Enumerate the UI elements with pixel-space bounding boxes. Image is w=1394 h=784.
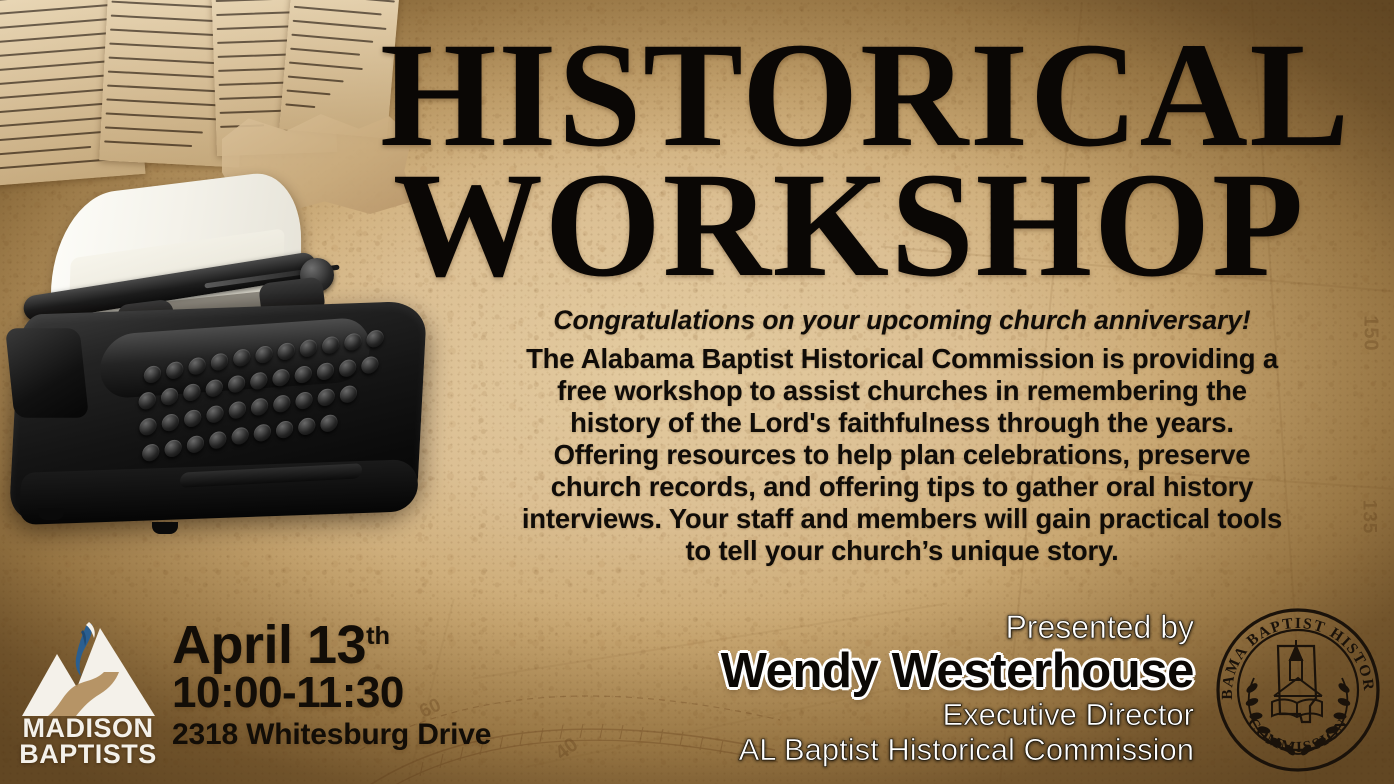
historical-workshop-flyer: 150 135 40 60	[0, 0, 1394, 784]
alabama-baptist-historical-commission-seal: ALABAMA BAPTIST HISTORICAL COMMISSION	[1210, 602, 1386, 778]
typewriter-foot	[152, 522, 178, 534]
event-date-text: April 13	[172, 615, 366, 675]
madison-baptists-logo: MADISON BAPTISTS	[14, 618, 162, 774]
page-title: HISTORICAL WORKSHOP	[380, 26, 1305, 294]
presenter-role: Executive Director	[674, 698, 1194, 733]
typewriter-foot	[38, 508, 64, 520]
svg-text:COMMISSION: COMMISSION	[1244, 715, 1352, 757]
event-details: April 13th 10:00-11:30 2318 Whitesburg D…	[172, 618, 491, 751]
presented-by-label: Presented by	[674, 610, 1194, 645]
seal-text-bottom: COMMISSION	[1244, 715, 1352, 757]
description-line: church records, and offering tips to gat…	[462, 471, 1342, 503]
description-line: free workshop to assist churches in reme…	[462, 375, 1342, 407]
tagline: Congratulations on your upcoming church …	[462, 305, 1342, 336]
description-line: interviews. Your staff and members will …	[462, 503, 1342, 535]
madison-baptists-wordmark: MADISON BAPTISTS	[14, 716, 162, 768]
body-copy: Congratulations on your upcoming church …	[462, 305, 1342, 567]
presenter-name: Wendy Westerhouse	[674, 646, 1194, 698]
description-paragraph: The Alabama Baptist Historical Commissio…	[462, 343, 1342, 566]
presenter-block: Presented by Wendy Westerhouse Executive…	[674, 610, 1194, 768]
description-line: The Alabama Baptist Historical Commissio…	[462, 343, 1342, 375]
event-date-suffix: th	[366, 622, 390, 650]
description-line: to tell your church’s unique story.	[462, 535, 1342, 567]
title-line-workshop: WORKSHOP	[380, 156, 1305, 294]
event-time: 10:00-11:30	[172, 671, 491, 715]
presenter-organization: AL Baptist Historical Commission	[674, 733, 1194, 768]
typewriter-carriage-return-lever	[5, 328, 89, 418]
handwritten-letters-collage	[0, 0, 398, 195]
event-date: April 13th	[172, 618, 491, 673]
description-line: history of the Lord's faithfulness throu…	[462, 407, 1342, 439]
logo-line-baptists: BAPTISTS	[14, 742, 162, 768]
mountain-path-icon	[20, 620, 156, 724]
description-line: Offering resources to help plan celebrat…	[462, 439, 1342, 471]
event-address: 2318 Whitesburg Drive	[172, 719, 491, 751]
